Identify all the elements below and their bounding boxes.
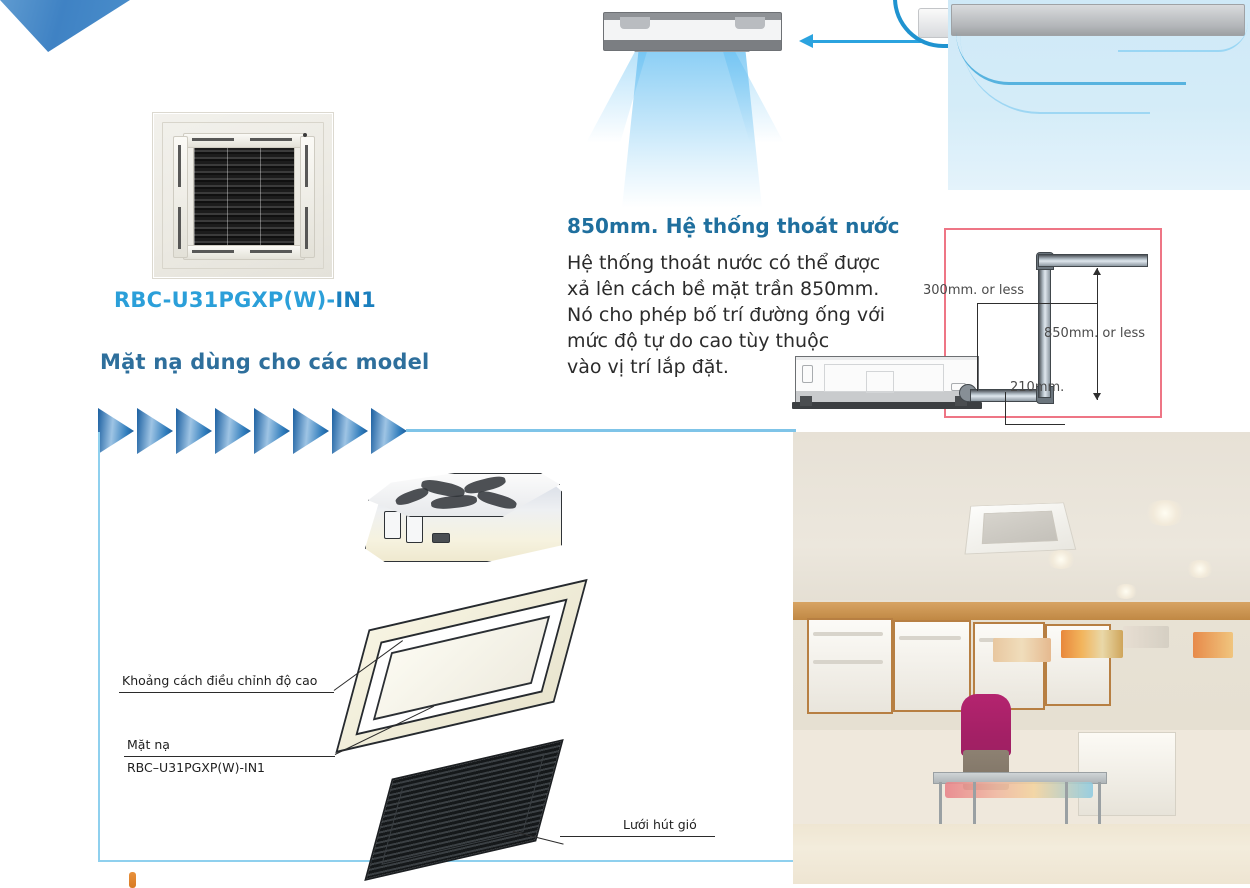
- ceiling-spotlight-4: [1113, 584, 1139, 599]
- drain-pipe-horizontal-upper: [1038, 254, 1148, 267]
- fan-blade-3: [430, 494, 477, 511]
- shelf-rail-3: [899, 636, 961, 640]
- model-code-prefix: RBC-U31PGXP(W)-: [114, 288, 335, 312]
- unit-slot-2: [406, 515, 423, 543]
- display-case-2: [893, 620, 971, 712]
- page-bottom-marker: [129, 872, 136, 888]
- callout-intake-grille-underline: [560, 836, 715, 837]
- airflow-stream-3: [1118, 22, 1248, 52]
- display-table-goods: [945, 782, 1093, 798]
- unit-slot-1: [384, 511, 401, 539]
- ceiling-spotlight-3: [1185, 560, 1215, 578]
- ceiling-unit-cross-section: [603, 12, 782, 51]
- corner-triangle-decoration: [0, 0, 130, 52]
- cassette-vent-bottom: [183, 245, 305, 260]
- callout-height-adjust-underline: [119, 692, 334, 693]
- callout-panel-model-code: RBC–U31PGXP(W)-IN1: [127, 760, 265, 775]
- installed-cassette-grille: [982, 511, 1058, 544]
- unit-panel-square: [866, 371, 894, 393]
- unit-notch-right: [735, 17, 765, 29]
- callout-intake-grille-label: Lưới hút gió: [623, 817, 697, 832]
- fan-blade-5: [394, 486, 430, 508]
- installed-ceiling-cassette: [964, 503, 1076, 555]
- callout-panel-label: Mặt nạ: [127, 737, 170, 752]
- dimension-line-300-vertical: [977, 303, 978, 391]
- model-code-suffix: IN1: [335, 288, 376, 312]
- cassette-vent-left: [173, 136, 188, 258]
- drainage-line-4: mức độ tự do cao tùy thuộc: [567, 328, 927, 354]
- air-discharge-beam: [622, 48, 762, 208]
- shopper-person: [961, 694, 1011, 756]
- unit-base-rail: [792, 402, 982, 409]
- drainage-line-1: Hệ thống thoát nước có thể được: [567, 250, 927, 276]
- cassette-vent-right: [300, 136, 315, 258]
- callout-height-adjust-label: Khoảng cách điều chỉnh độ cao: [122, 673, 317, 688]
- hanging-garments-4: [1193, 632, 1233, 658]
- unit-foot-left: [800, 396, 812, 406]
- cassette-vent-top: [183, 133, 305, 148]
- shelf-rail-2: [813, 660, 883, 664]
- store-floor: [793, 824, 1250, 884]
- dimension-line-300-horizontal: [977, 303, 1097, 304]
- indoor-unit-side-view: [795, 356, 979, 404]
- room-airflow-illustration: [948, 0, 1250, 190]
- dimension-label-210mm: 210mm.: [1010, 380, 1064, 395]
- drainage-heading: 850mm. Hệ thống thoát nước: [567, 214, 900, 238]
- hanging-garments-2: [1061, 630, 1123, 658]
- unit-notch-left: [620, 17, 650, 29]
- cassette-intake-grille: [193, 146, 295, 246]
- unit-label-plate: [432, 533, 450, 543]
- masks-section-title: Mặt nạ dùng cho các model: [100, 350, 429, 374]
- product-model-code: RBC-U31PGXP(W)-IN1: [114, 288, 376, 312]
- drainage-line-2: xả lên cách bề mặt trần 850mm.: [567, 276, 927, 302]
- callout-panel-underline: [124, 756, 335, 757]
- shelf-rail-1: [813, 632, 883, 636]
- fan-blade-4: [476, 489, 518, 512]
- ceiling-cassette-unit-photo: [152, 112, 334, 279]
- cassette-sensor-dot: [303, 133, 307, 137]
- dimension-line-210-vertical: [1005, 392, 1006, 424]
- dimension-label-300mm: 300mm. or less: [923, 283, 1024, 298]
- ceiling-spotlight-2: [1045, 550, 1077, 569]
- airflow-direction-arrow: [812, 40, 924, 43]
- ceiling-spotlight-1: [1143, 500, 1187, 526]
- retail-store-interior-photo: [793, 432, 1250, 884]
- dimension-label-850mm: 850mm. or less: [1044, 326, 1145, 341]
- drainage-line-3: Nó cho phép bố trí đường ống với: [567, 302, 927, 328]
- unit-left-tab: [802, 365, 813, 383]
- dimension-line-210-horizontal: [1005, 424, 1065, 425]
- hanging-garments-3: [1123, 626, 1169, 648]
- hanging-garments-1: [993, 638, 1051, 662]
